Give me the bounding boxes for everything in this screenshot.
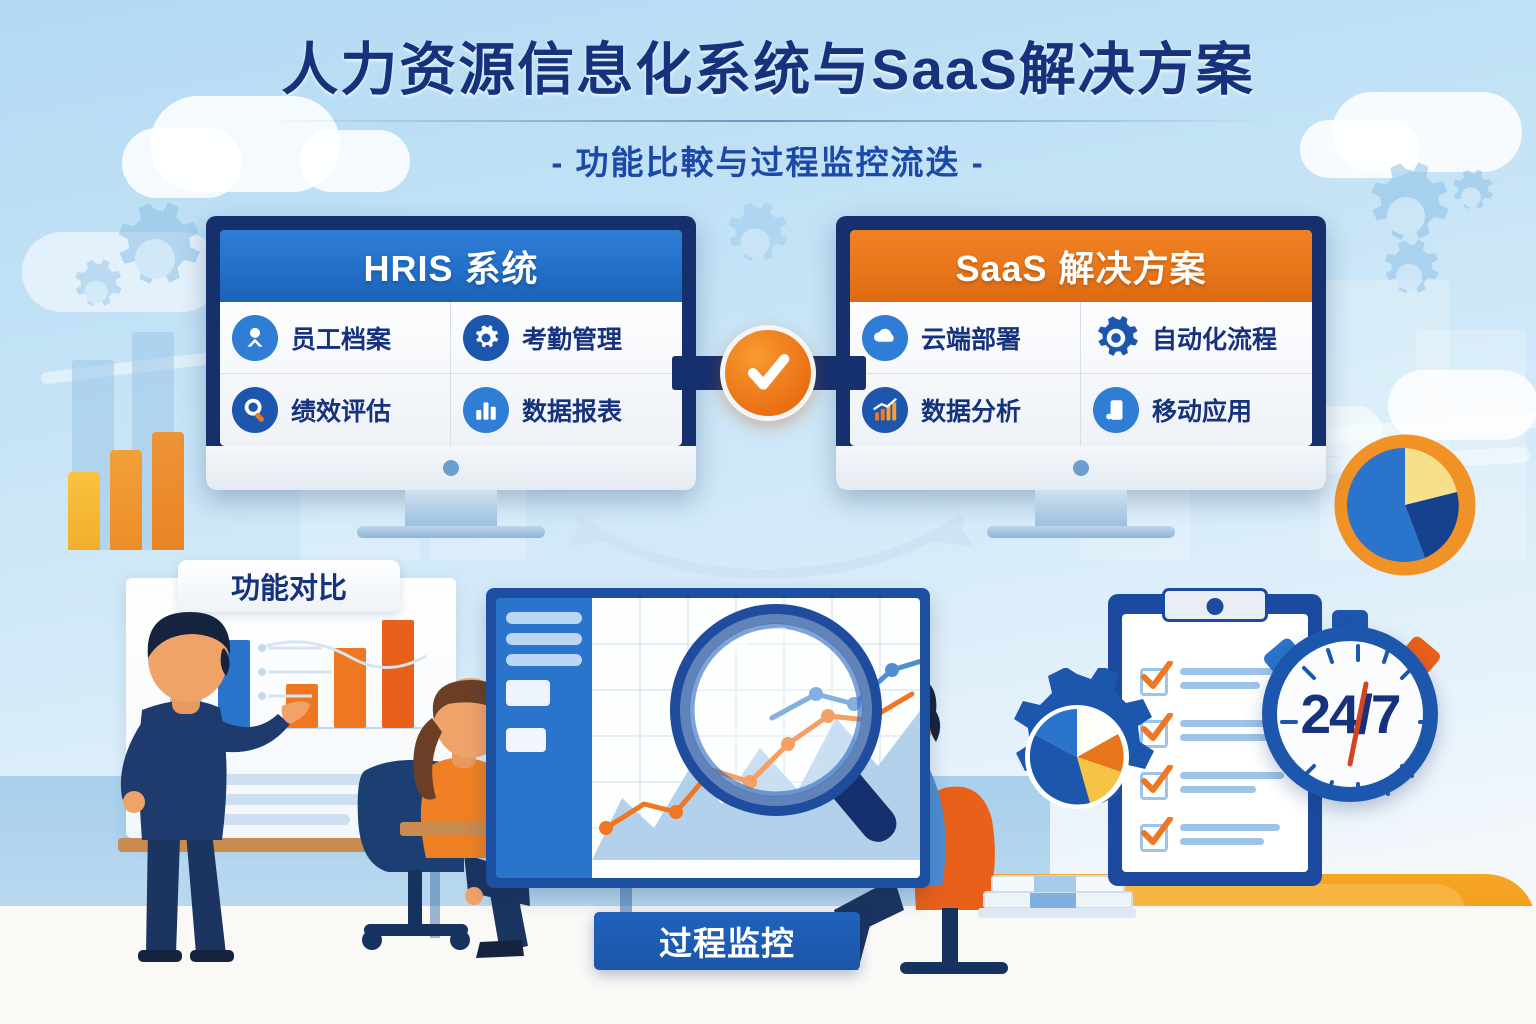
saas-feature-label: 移动应用: [1152, 392, 1252, 428]
page-title: 人力资源信息化系统与SaaS解决方案: [0, 24, 1536, 106]
cloud-icon: [862, 315, 908, 361]
saas-panel-header: SaaS 解决方案: [850, 230, 1312, 302]
monitor-screen: HRIS 系统 员工档案 考勤管理: [220, 230, 682, 446]
power-indicator-dot: [1073, 460, 1089, 476]
stopwatch-ticks: [1270, 634, 1446, 810]
monitor-base: [357, 526, 545, 538]
growth-chart-icon: [862, 387, 908, 433]
background-bar: [152, 432, 184, 550]
saas-feature-item[interactable]: 云端部署: [850, 302, 1081, 374]
page-subtitle: - 功能比較与过程监控流迭 -: [0, 136, 1536, 184]
monitor-frame: SaaS 解决方案 云端部署 自动化流程: [836, 216, 1326, 490]
saas-feature-label: 数据分析: [921, 392, 1021, 428]
monitor-bezel: [206, 446, 696, 490]
sidebar-placeholder-line: [506, 612, 582, 624]
background-bar: [110, 450, 142, 550]
process-monitor-banner[interactable]: 过程监控: [594, 912, 860, 970]
office-scene: 功能对比: [0, 560, 1536, 1024]
gear-pie-chart: [988, 668, 1166, 851]
monitor-neck: [405, 490, 497, 526]
monitor-screen: SaaS 解决方案 云端部署 自动化流程: [850, 230, 1312, 446]
clipboard-clip: [1162, 588, 1268, 622]
sidebar-card: [506, 728, 546, 752]
saas-feature-label: 自动化流程: [1152, 320, 1277, 356]
stopwatch-face: 24/7: [1262, 626, 1438, 802]
hris-feature-label: 绩效评估: [291, 392, 391, 428]
board-label-card[interactable]: 功能对比: [178, 560, 400, 612]
infographic-canvas: 人力资源信息化系统与SaaS解决方案 - 功能比較与过程监控流迭 - HRIS …: [0, 0, 1536, 1024]
background-bar: [68, 472, 100, 550]
bar-chart-icon: [463, 387, 509, 433]
check-mark-icon: [740, 345, 796, 401]
magnifier-icon: [660, 602, 950, 852]
saas-feature-label: 云端部署: [921, 320, 1021, 356]
header-block: 人力资源信息化系统与SaaS解决方案 - 功能比較与过程监控流迭 -: [0, 24, 1536, 184]
gear-icon: [62, 258, 130, 326]
saas-monitor[interactable]: SaaS 解决方案 云端部署 自动化流程: [836, 216, 1326, 538]
sidebar-card: [506, 680, 550, 706]
stopwatch-second-hand: [1350, 684, 1366, 764]
hris-feature-item[interactable]: 数据报表: [451, 374, 682, 446]
stopwatch-24-7[interactable]: 24/7: [1262, 626, 1438, 802]
user-icon: [232, 315, 278, 361]
hris-monitor[interactable]: HRIS 系统 员工档案 考勤管理: [206, 216, 696, 538]
title-divider: [263, 120, 1273, 122]
saas-feature-item[interactable]: 移动应用: [1081, 374, 1312, 446]
saas-feature-item[interactable]: 数据分析: [850, 374, 1081, 446]
magnifier-icon: [232, 387, 278, 433]
monitor-frame: HRIS 系统 员工档案 考勤管理: [206, 216, 696, 490]
monitor-base: [987, 526, 1175, 538]
hris-feature-item[interactable]: 绩效评估: [220, 374, 451, 446]
gear-icon: [712, 200, 798, 286]
checklist-text-lines: [1180, 824, 1280, 852]
presenter-figure: [76, 602, 316, 982]
board-label-text: 功能对比: [231, 565, 347, 607]
hris-feature-grid: 员工档案 考勤管理 绩效评估: [220, 302, 682, 446]
sidebar-placeholder-line: [506, 633, 582, 645]
hris-feature-label: 数据报表: [522, 392, 622, 428]
mobile-icon: [1093, 387, 1139, 433]
saas-feature-item[interactable]: 自动化流程: [1081, 302, 1312, 374]
monitor-bezel: [836, 446, 1326, 490]
clipboard-clip-hole: [1207, 598, 1224, 615]
gear-icon: [463, 315, 509, 361]
gear-icon: [1370, 238, 1448, 316]
sidebar-placeholder-line: [506, 654, 582, 666]
banner-text: 过程监控: [659, 917, 795, 965]
gear-icon: [1093, 315, 1139, 361]
hris-panel-header: HRIS 系统: [220, 230, 682, 302]
hris-feature-item[interactable]: 员工档案: [220, 302, 451, 374]
saas-feature-grid: 云端部署 自动化流程 数据分析: [850, 302, 1312, 446]
hris-feature-item[interactable]: 考勤管理: [451, 302, 682, 374]
hris-feature-label: 员工档案: [291, 320, 391, 356]
dashboard-sidebar: [496, 598, 592, 878]
monitor-neck: [1035, 490, 1127, 526]
check-circle-icon[interactable]: [720, 325, 816, 421]
hris-feature-label: 考勤管理: [522, 320, 622, 356]
power-indicator-dot: [443, 460, 459, 476]
